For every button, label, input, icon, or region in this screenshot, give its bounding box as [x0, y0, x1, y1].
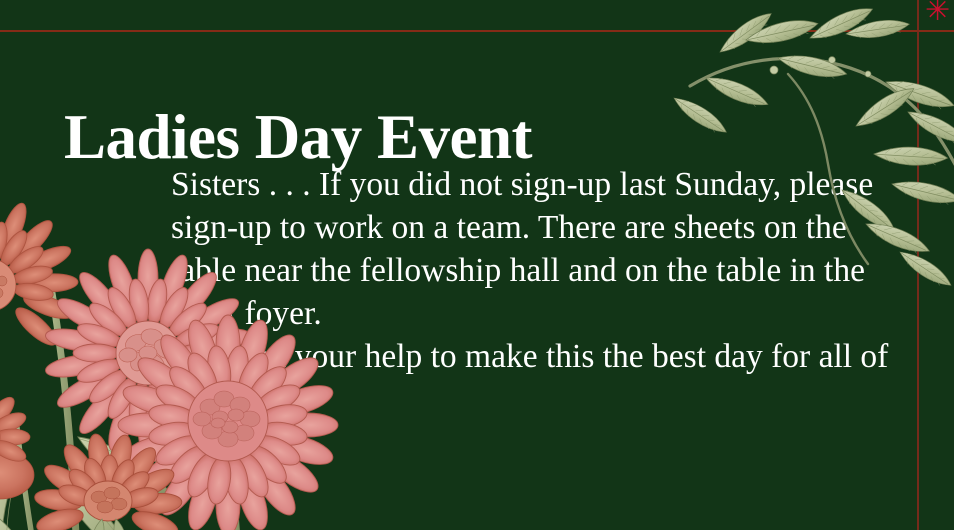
- flower-upper-left: [0, 197, 78, 351]
- flower-bud-left: [0, 384, 30, 465]
- body-copy: Sisters . . . If you did not sign-up las…: [171, 163, 901, 421]
- vertical-rule: [917, 0, 919, 530]
- page-title: Ladies Day Event: [64, 104, 532, 170]
- flower-lower-salmon: [33, 432, 182, 530]
- asterisk-icon: ✳: [925, 0, 949, 26]
- paragraph-2: We need your help to make this the best …: [171, 335, 901, 421]
- slide-canvas: Ladies Day Event Sisters . . . If you di…: [0, 0, 954, 530]
- paragraph-1: Sisters . . . If you did not sign-up las…: [171, 163, 901, 335]
- horizontal-rule: [0, 30, 954, 32]
